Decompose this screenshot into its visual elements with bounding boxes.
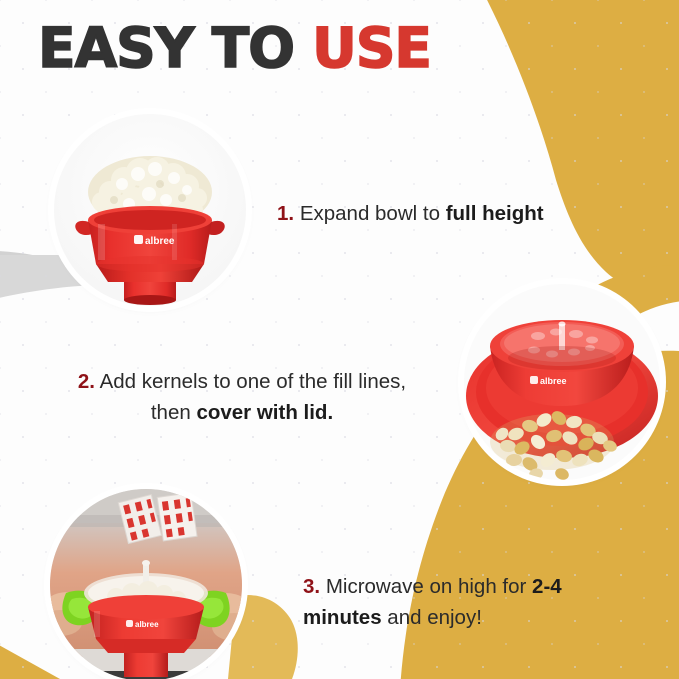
step-3-image: albree [50, 489, 242, 679]
infographic-canvas: EASY TO USE [0, 0, 679, 679]
step-3-regular: Microwave on high for [326, 575, 532, 598]
svg-text:albree: albree [145, 236, 175, 247]
step-1-text: 1. Expand bowl to full height [277, 198, 544, 229]
svg-text:albree: albree [540, 376, 567, 386]
title-highlight: USE [312, 16, 431, 80]
popcorn-packets [118, 493, 197, 544]
page-title: EASY TO USE [38, 17, 431, 79]
bowl-with-lid-and-kernels-illustration: albree [464, 284, 660, 480]
step-3-text: 3. Microwave on high for 2-4 minutes and… [303, 571, 633, 633]
title-plain: EASY TO [38, 16, 312, 80]
microwave-removal-illustration: albree [50, 489, 242, 679]
bowl-with-popcorn-illustration: albree [54, 114, 246, 306]
step-2-bold: cover with lid. [196, 401, 333, 424]
step-1-image: albree [54, 114, 246, 306]
step-2-number: 2. [78, 370, 95, 393]
step-1-bold: full height [446, 202, 544, 225]
step-2-image: albree [464, 284, 660, 480]
step-1-regular: Expand bowl to [300, 202, 446, 225]
step-3-number: 3. [303, 575, 320, 598]
step-1-number: 1. [277, 202, 294, 225]
svg-text:albree: albree [135, 620, 159, 629]
step-3-tail: and enjoy! [382, 606, 482, 629]
step-2-text: 2. Add kernels to one of the fill lines,… [62, 366, 422, 428]
